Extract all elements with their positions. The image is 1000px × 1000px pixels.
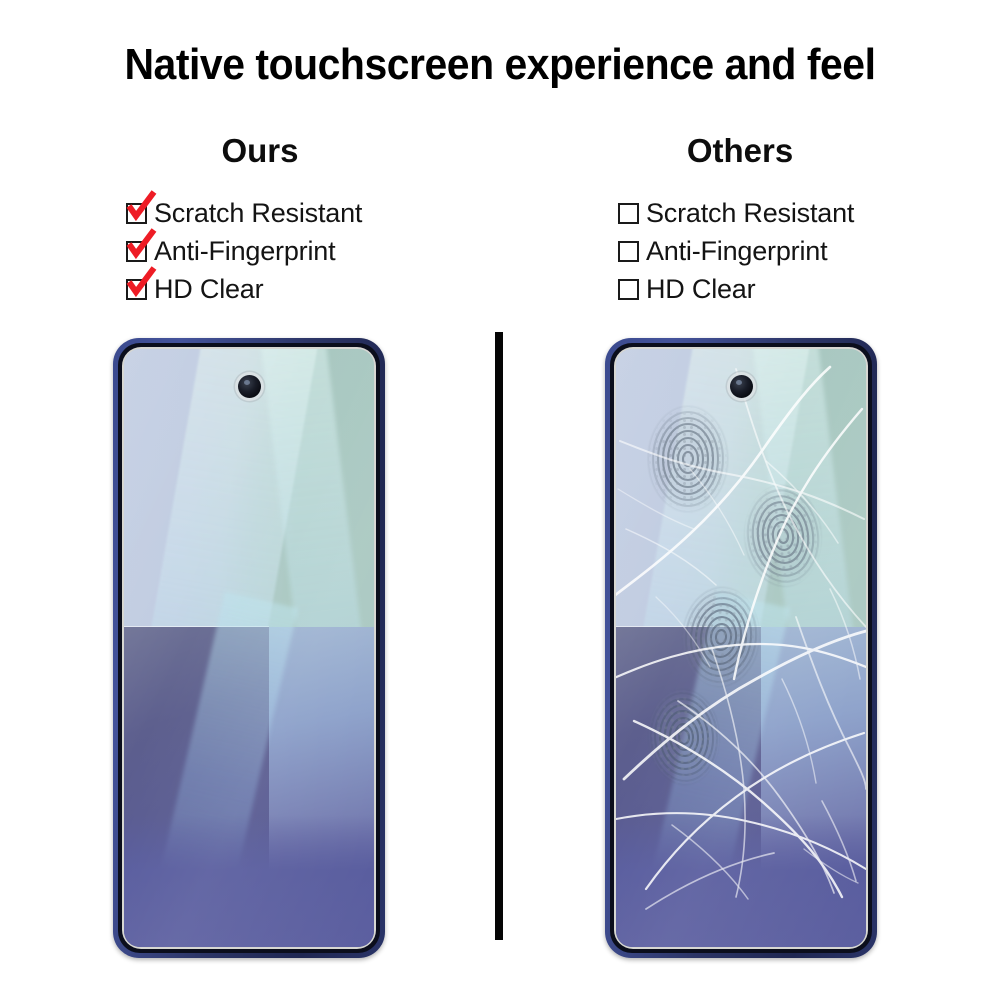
comparison-divider xyxy=(495,332,503,940)
screen-sheen xyxy=(616,349,866,947)
checkbox-checked[interactable] xyxy=(126,203,147,224)
feature-row: Scratch Resistant xyxy=(126,194,460,232)
smartphone-protected xyxy=(113,338,385,958)
feature-row: Anti-Fingerprint xyxy=(618,232,940,270)
feature-row: HD Clear xyxy=(618,270,940,308)
checkbox-empty[interactable] xyxy=(618,241,639,262)
checkbox-checked[interactable] xyxy=(126,241,147,262)
feature-row: HD Clear xyxy=(126,270,460,308)
checkbox-empty[interactable] xyxy=(618,279,639,300)
phone-screen-clean xyxy=(124,349,374,947)
front-camera-icon xyxy=(730,375,753,398)
feature-label: Anti-Fingerprint xyxy=(646,236,827,267)
feature-label: HD Clear xyxy=(646,274,755,305)
smartphone-damaged xyxy=(605,338,877,958)
column-heading-ours: Ours xyxy=(60,132,460,170)
check-icon xyxy=(127,228,157,260)
feature-list-ours: Scratch Resistant Anti-Fingerprint HD Cl… xyxy=(60,194,460,308)
check-icon xyxy=(127,266,157,298)
column-heading-others: Others xyxy=(540,132,940,170)
checkbox-empty[interactable] xyxy=(618,203,639,224)
feature-label: Scratch Resistant xyxy=(646,198,854,229)
feature-label: Anti-Fingerprint xyxy=(154,236,335,267)
screen-sheen xyxy=(124,349,374,947)
check-icon xyxy=(127,190,157,222)
comparison-column-ours: Ours Scratch Resistant Anti-Fingerprint xyxy=(60,132,460,308)
checkbox-checked[interactable] xyxy=(126,279,147,300)
phone-screen-damaged xyxy=(616,349,866,947)
feature-list-others: Scratch Resistant Anti-Fingerprint HD Cl… xyxy=(540,194,940,308)
feature-label: Scratch Resistant xyxy=(154,198,362,229)
front-camera-icon xyxy=(238,375,261,398)
feature-label: HD Clear xyxy=(154,274,263,305)
feature-row: Scratch Resistant xyxy=(618,194,940,232)
feature-row: Anti-Fingerprint xyxy=(126,232,460,270)
comparison-column-others: Others Scratch Resistant Anti-Fingerprin… xyxy=(540,132,940,308)
page-title: Native touchscreen experience and feel xyxy=(35,40,965,90)
